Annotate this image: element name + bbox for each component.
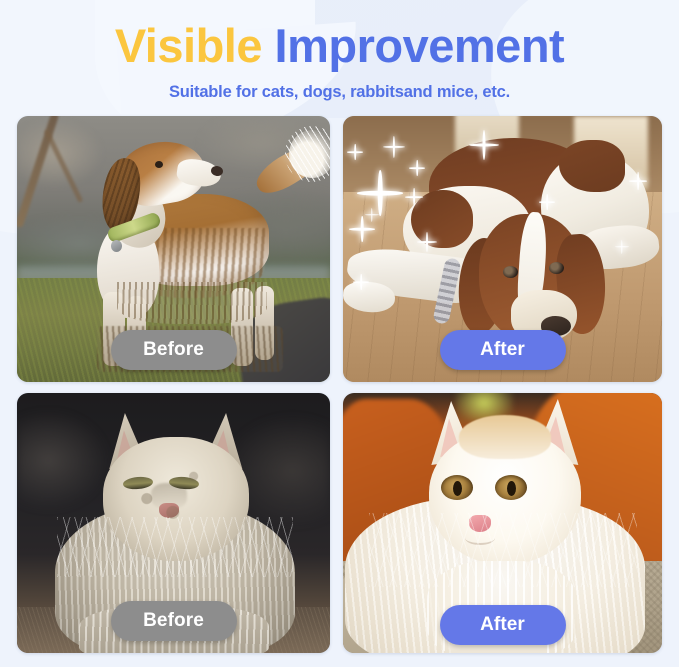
before-after-grid: Before [0, 102, 679, 658]
badge-before: Before [111, 601, 237, 641]
page-title: Visible Improvement [0, 22, 679, 70]
comparison-cell-cat-after[interactable]: After [343, 393, 662, 653]
badge-after: After [440, 330, 566, 370]
badge-after: After [440, 605, 566, 645]
title-main-word: Improvement [275, 19, 565, 72]
comparison-cell-dog-after[interactable]: After [343, 116, 662, 382]
badge-before: Before [111, 330, 237, 370]
page-subtitle: Suitable for cats, dogs, rabbitsand mice… [0, 83, 679, 102]
comparison-cell-cat-before[interactable]: Before [17, 393, 330, 653]
title-accent-word: Visible [115, 19, 262, 72]
page-header: Visible Improvement Suitable for cats, d… [0, 0, 679, 102]
comparison-cell-dog-before[interactable]: Before [17, 116, 330, 382]
